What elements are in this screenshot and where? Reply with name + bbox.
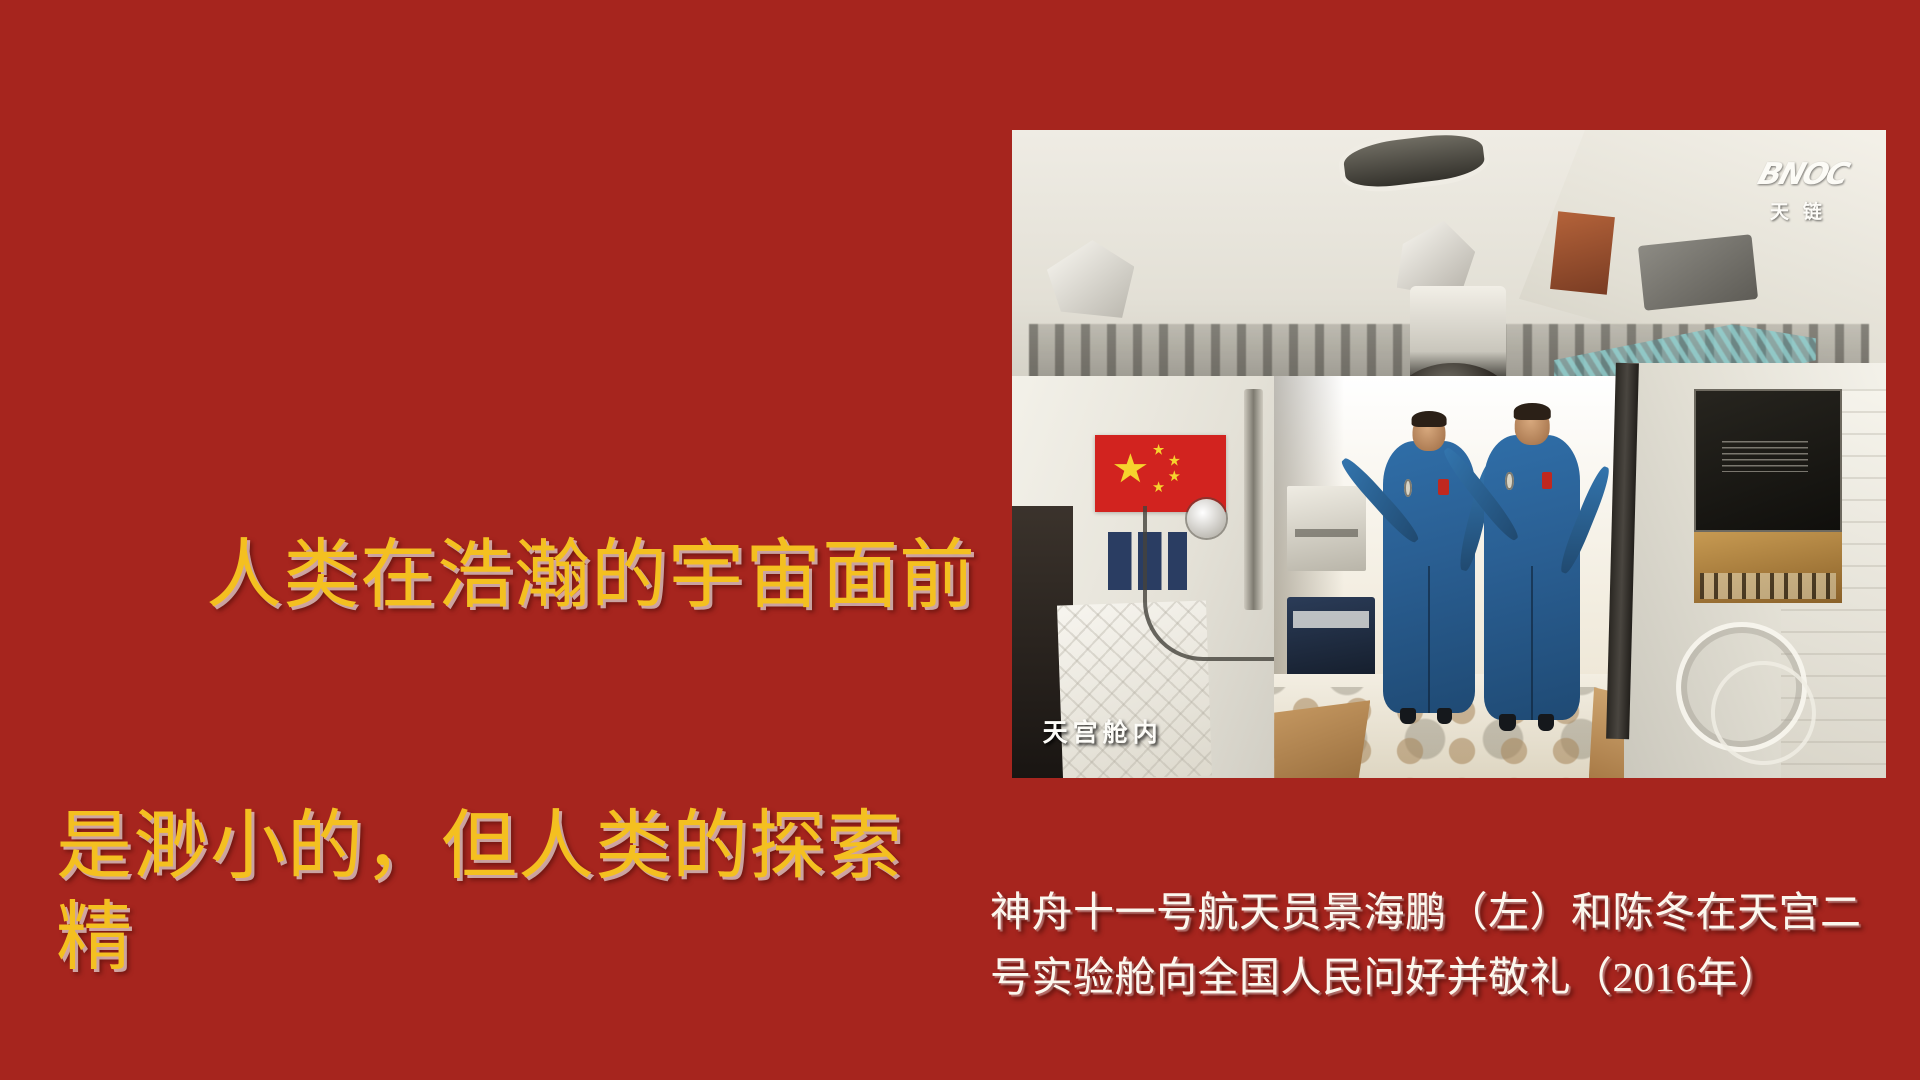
wall-knob bbox=[1187, 499, 1226, 538]
astronaut-left-boot-1 bbox=[1400, 708, 1416, 724]
photo-caption: 神舟十一号航天员景海鹏（左）和陈冬在天宫二 号实验舱向全国人民问好并敬礼（201… bbox=[990, 880, 1890, 1010]
flag-small-star-4 bbox=[1153, 481, 1165, 493]
gray-ceiling-panel bbox=[1638, 234, 1758, 310]
photo-overlay-label: 天宫舱内 bbox=[1043, 713, 1163, 749]
quote-line-2: 是渺小的，但人类的探索精 bbox=[56, 802, 976, 983]
spacecraft-cabin-photo: 天宫舱内 BNOC 天链 bbox=[1012, 130, 1886, 778]
astronaut-left-hair bbox=[1412, 411, 1447, 427]
astronaut-left-red-patch bbox=[1438, 479, 1448, 495]
astronaut-right bbox=[1484, 435, 1580, 720]
photo-frame: 天宫舱内 BNOC 天链 bbox=[1012, 130, 1886, 778]
corridor-equipment-mid bbox=[1287, 486, 1366, 570]
astronaut-right-boot-1 bbox=[1499, 714, 1515, 731]
watermark-logo-icon: BNOC bbox=[1754, 157, 1852, 192]
amber-ceiling-box bbox=[1550, 211, 1615, 294]
caption-line-1: 神舟十一号航天员景海鹏（左）和陈冬在天宫二 bbox=[990, 880, 1890, 945]
astronaut-left-badge bbox=[1404, 479, 1412, 497]
quote-text-block: 人类在浩瀚的宇宙面前 是渺小的，但人类的探索精 神是伟大的。 bbox=[56, 350, 976, 1080]
quote-line-1: 人类在浩瀚的宇宙面前 bbox=[56, 531, 976, 621]
astronaut-right-hair bbox=[1514, 403, 1551, 420]
watermark-chinese-label: 天链 bbox=[1759, 197, 1847, 224]
astronaut-right-leg-split bbox=[1531, 566, 1533, 720]
flag-small-star-3 bbox=[1168, 470, 1180, 482]
astronaut-left-leg-split bbox=[1428, 566, 1430, 713]
flag-small-star-1 bbox=[1153, 444, 1165, 456]
flag-small-star-2 bbox=[1168, 455, 1180, 467]
black-instrument-box bbox=[1694, 389, 1843, 532]
flag-large-star bbox=[1113, 453, 1147, 484]
slide-canvas: 人类在浩瀚的宇宙面前 是渺小的，但人类的探索精 神是伟大的。 bbox=[0, 0, 1920, 1080]
caption-line-2: 号实验舱向全国人民问好并敬礼（2016年） bbox=[990, 945, 1890, 1010]
broadcast-watermark: BNOC 天链 bbox=[1759, 157, 1847, 224]
floor-panel-left bbox=[1274, 700, 1370, 778]
astronaut-left-boot-2 bbox=[1437, 708, 1453, 724]
astronaut-right-badge bbox=[1505, 472, 1514, 491]
astronaut-right-red-patch bbox=[1542, 472, 1553, 489]
vertical-pipe bbox=[1244, 389, 1263, 609]
amber-equipment-rack bbox=[1694, 532, 1843, 603]
astronaut-right-boot-2 bbox=[1538, 714, 1554, 731]
